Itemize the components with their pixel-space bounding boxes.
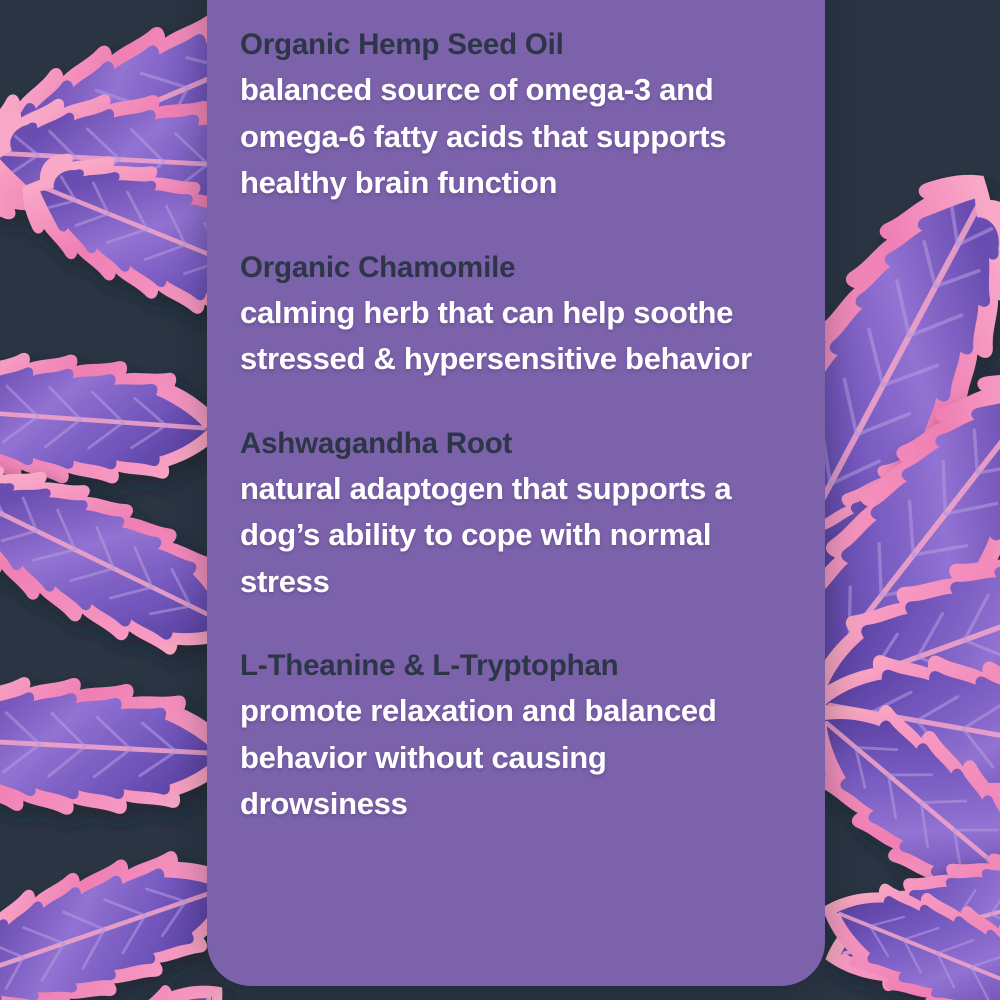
ingredient-item: L-Theanine & L-Tryptophan promote relaxa… [240,643,796,828]
ingredient-description: natural adaptogen that supports a dog’s … [240,466,760,606]
ingredient-description: calming herb that can help soothe stress… [240,290,760,383]
ingredient-list: Organic Hemp Seed Oil balanced source of… [240,0,796,986]
ingredient-item: Ashwagandha Root natural adaptogen that … [240,421,796,606]
ingredient-name: Organic Chamomile [240,245,796,290]
ingredient-name: Ashwagandha Root [240,421,796,466]
product-ingredients-panel: .leafEdgePath { fill: url(#lfEdge); } .l… [0,0,1000,1000]
ingredient-card: Organic Hemp Seed Oil balanced source of… [207,0,825,986]
ingredient-description: balanced source of omega-3 and omega-6 f… [240,67,760,207]
ingredient-name: Organic Hemp Seed Oil [240,22,796,67]
ingredient-item: Organic Hemp Seed Oil balanced source of… [240,22,796,207]
ingredient-name: L-Theanine & L-Tryptophan [240,643,796,688]
ingredient-item: Organic Chamomile calming herb that can … [240,245,796,383]
ingredient-description: promote relaxation and balanced behavior… [240,688,760,828]
